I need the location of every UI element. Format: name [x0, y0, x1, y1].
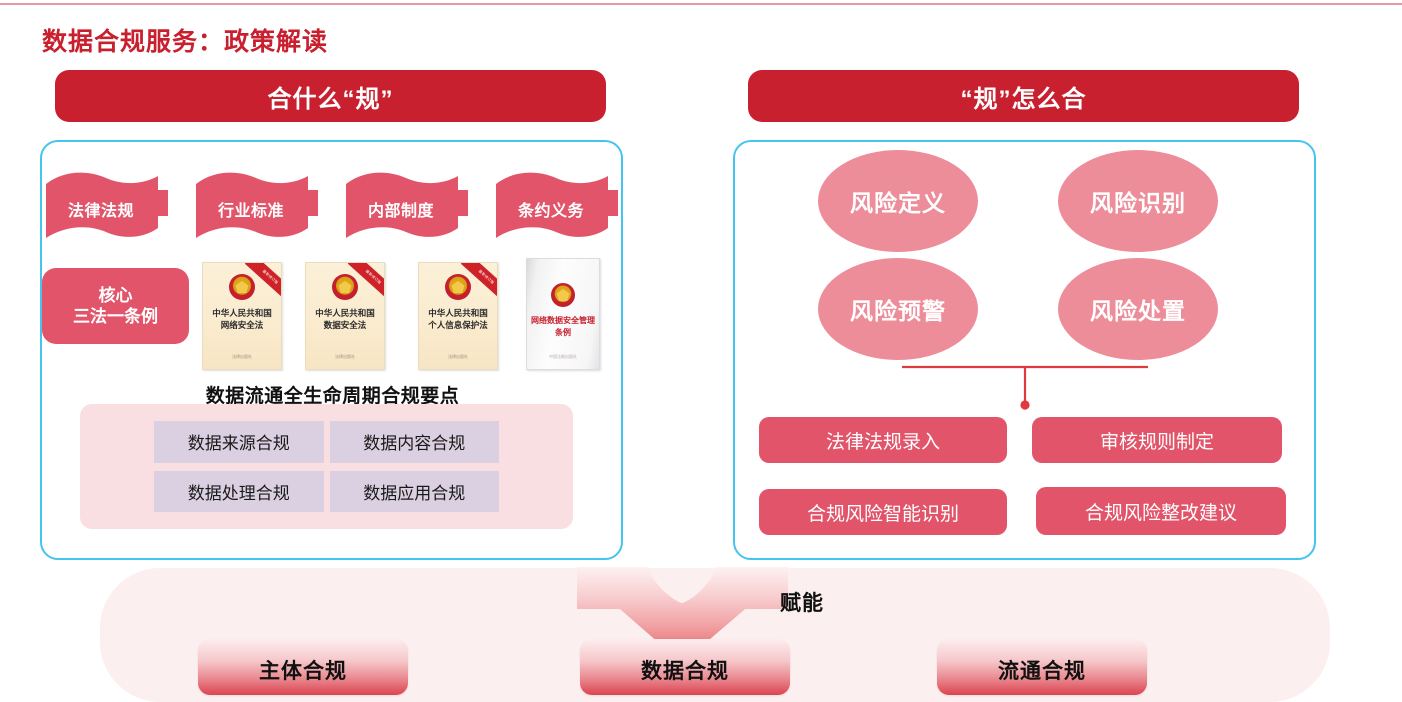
- law-book-cybersecurity[interactable]: 最新修订版 中华人民共和国网络安全法 法律出版社: [202, 262, 282, 370]
- flag-banner-industry-standard[interactable]: 行业标准: [194, 168, 318, 246]
- core-laws-badge: 核心 三法一条例: [42, 268, 189, 344]
- book-title: 中华人民共和国数据安全法: [310, 307, 380, 332]
- flag-label: 内部制度: [344, 168, 468, 246]
- lifecycle-grid: 数据来源合规 数据内容合规 数据处理合规 数据应用合规: [80, 404, 573, 529]
- national-emblem-icon: [229, 274, 255, 300]
- core-badge-line2: 三法一条例: [73, 306, 158, 327]
- law-book-network-data-security-regulation[interactable]: 网络数据安全管理条例 中国法制出版社: [526, 258, 600, 370]
- capability-button-rectification-advice[interactable]: 合规风险整改建议: [1036, 487, 1286, 535]
- risk-ellipse-warning[interactable]: 风险预警: [818, 258, 978, 360]
- book-publisher: 中国法制出版社: [527, 354, 599, 360]
- risk-ellipse-definition[interactable]: 风险定义: [818, 150, 978, 252]
- book-title: 网络数据安全管理条例: [531, 315, 595, 338]
- national-emblem-icon: [551, 283, 575, 307]
- bottom-pill-circulation-compliance[interactable]: 流通合规: [937, 639, 1147, 695]
- bottom-pill-subject-compliance[interactable]: 主体合规: [198, 639, 408, 695]
- book-publisher: 法律出版社: [306, 354, 384, 360]
- slide-canvas: 数据合规服务：政策解读 合什么“规” 法律法规 行业标准 内部制度 条约义务: [0, 0, 1402, 702]
- book-title: 中华人民共和国网络安全法: [207, 307, 277, 332]
- risk-ellipse-disposal[interactable]: 风险处置: [1058, 258, 1218, 360]
- national-emblem-icon: [332, 274, 358, 300]
- core-badge-line1: 核心: [99, 285, 133, 306]
- flag-label: 行业标准: [194, 168, 318, 246]
- lifecycle-item-processing[interactable]: 数据处理合规: [154, 471, 324, 513]
- capability-button-audit-rules[interactable]: 审核规则制定: [1032, 417, 1282, 463]
- law-book-data-security[interactable]: 最新修订版 中华人民共和国数据安全法 法律出版社: [305, 262, 385, 370]
- national-emblem-icon: [445, 274, 471, 300]
- book-publisher: 法律出版社: [419, 354, 497, 360]
- section-header-left: 合什么“规”: [55, 70, 606, 122]
- flag-banner-treaty-obligation[interactable]: 条约义务: [494, 168, 618, 246]
- flag-label: 法律法规: [44, 168, 168, 246]
- enable-label: 赋能: [780, 587, 824, 617]
- flag-label: 条约义务: [494, 168, 618, 246]
- lifecycle-item-source[interactable]: 数据来源合规: [154, 421, 324, 463]
- lifecycle-item-content[interactable]: 数据内容合规: [330, 421, 500, 463]
- section-header-right: “规”怎么合: [748, 70, 1299, 122]
- book-publisher: 法律出版社: [203, 354, 281, 360]
- flag-banner-law[interactable]: 法律法规: [44, 168, 168, 246]
- bottom-pill-data-compliance[interactable]: 数据合规: [580, 639, 790, 695]
- lifecycle-card: 数据来源合规 数据内容合规 数据处理合规 数据应用合规: [80, 404, 573, 529]
- risk-ellipse-identification[interactable]: 风险识别: [1058, 150, 1218, 252]
- capability-button-smart-risk-identification[interactable]: 合规风险智能识别: [759, 489, 1007, 535]
- book-title: 中华人民共和国个人信息保护法: [423, 307, 493, 332]
- lifecycle-item-application[interactable]: 数据应用合规: [330, 471, 500, 513]
- flag-banner-internal-policy[interactable]: 内部制度: [344, 168, 468, 246]
- law-book-personal-information-protection[interactable]: 最新修订版 中华人民共和国个人信息保护法 法律出版社: [418, 262, 498, 370]
- page-title: 数据合规服务：政策解读: [42, 22, 328, 58]
- connector-line: [900, 364, 1150, 412]
- top-accent-rule: [0, 3, 1402, 5]
- capability-button-law-entry[interactable]: 法律法规录入: [759, 417, 1007, 463]
